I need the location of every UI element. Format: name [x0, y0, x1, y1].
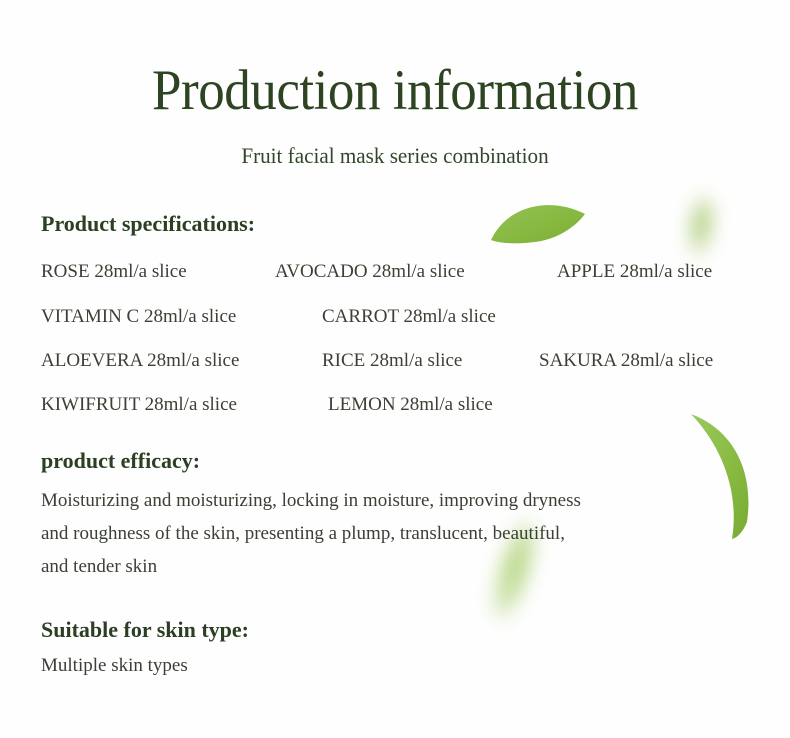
spec-row-2: VITAMIN C 28ml/a slice CARROT 28ml/a sli…	[0, 306, 790, 330]
leaf-smudge-top-right-icon	[684, 194, 718, 259]
spec-item-vitamin-c: VITAMIN C 28ml/a slice	[41, 306, 236, 328]
spec-item-avocado: AVOCADO 28ml/a slice	[275, 261, 465, 283]
product-information-page: Production information Fruit facial mask…	[0, 0, 790, 738]
spec-item-lemon: LEMON 28ml/a slice	[328, 394, 493, 416]
skin-type-heading: Suitable for skin type:	[41, 617, 249, 643]
spec-item-kiwifruit: KIWIFRUIT 28ml/a slice	[41, 394, 237, 416]
efficacy-heading: product efficacy:	[41, 448, 200, 474]
spec-row-4: KIWIFRUIT 28ml/a slice LEMON 28ml/a slic…	[0, 394, 790, 418]
page-title: Production information	[28, 61, 763, 121]
efficacy-line-1: Moisturizing and moisturizing, locking i…	[41, 484, 747, 517]
spec-item-apple: APPLE 28ml/a slice	[557, 261, 712, 283]
page-subtitle: Fruit facial mask series combination	[16, 143, 774, 169]
leaf-crescent-top-icon	[489, 200, 589, 246]
efficacy-description: Moisturizing and moisturizing, locking i…	[41, 484, 747, 583]
spec-row-1: ROSE 28ml/a slice AVOCADO 28ml/a slice A…	[0, 261, 790, 285]
spec-item-sakura: SAKURA 28ml/a slice	[539, 350, 713, 372]
spec-row-3: ALOEVERA 28ml/a slice RICE 28ml/a slice …	[0, 350, 790, 374]
efficacy-line-2: and roughness of the skin, presenting a …	[41, 517, 747, 550]
spec-item-rice: RICE 28ml/a slice	[322, 350, 462, 372]
spec-item-aloevera: ALOEVERA 28ml/a slice	[41, 350, 239, 372]
skin-type-value: Multiple skin types	[41, 655, 188, 677]
efficacy-line-3: and tender skin	[41, 550, 747, 583]
spec-item-carrot: CARROT 28ml/a slice	[322, 306, 496, 328]
specifications-heading: Product specifications:	[41, 211, 255, 237]
spec-item-rose: ROSE 28ml/a slice	[41, 261, 187, 283]
